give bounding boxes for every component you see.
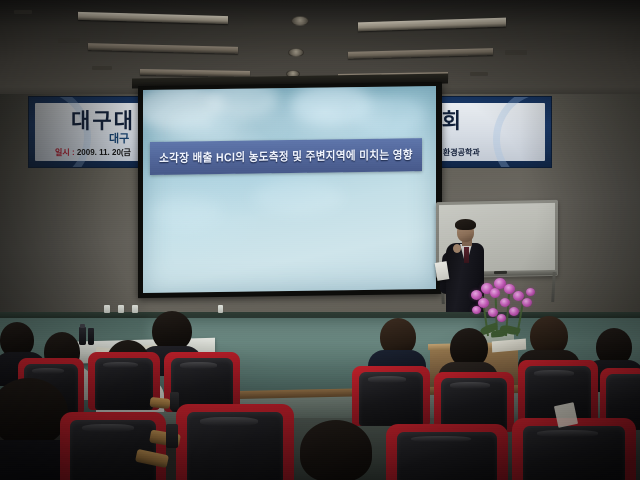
seat-highlight: [368, 376, 406, 383]
ceiling-vent: [92, 66, 112, 70]
round-downlight: [291, 16, 309, 26]
thermos-bottle: [88, 328, 94, 345]
auditorium-photo: 대구대 대구 일시 : 2009. 11. 20(금 발표회 발표회 : 대구대…: [0, 0, 640, 480]
recessed-linear-light: [78, 12, 228, 24]
ceiling-vent: [470, 72, 488, 76]
orchid-bloom: [497, 314, 506, 322]
seat-highlight: [200, 417, 258, 426]
audience-member: [300, 420, 372, 480]
orchid-bloom: [500, 298, 510, 307]
seat-highlight: [537, 430, 598, 437]
recessed-linear-light: [348, 48, 493, 59]
seat-armrest-post: [166, 424, 178, 448]
seat-highlight: [180, 362, 217, 369]
wall-outlet: [118, 305, 124, 313]
round-downlight: [288, 48, 304, 57]
orchid-bloom: [522, 298, 532, 307]
wall-shadow-left: [0, 94, 150, 324]
seat-cushion[interactable]: [397, 432, 497, 480]
slide-title-bar: 소각장 배출 HCl의 농도측정 및 주변지역에 미치는 영향: [150, 138, 422, 175]
recessed-linear-light: [88, 43, 238, 54]
seat-highlight: [82, 424, 134, 432]
orchid-bloom: [472, 306, 481, 314]
ceiling-vent: [14, 10, 32, 14]
slide-cloud: [151, 197, 221, 228]
recessed-linear-light: [358, 18, 506, 32]
seat-highlight: [450, 382, 490, 389]
thermos-bottle: [79, 327, 86, 345]
orchid-bloom: [490, 288, 500, 298]
seat-highlight: [103, 362, 138, 369]
presenter-hand: [453, 244, 461, 253]
wall-outlet: [218, 305, 223, 313]
seat-armrest: [150, 397, 171, 409]
bottle-cap: [80, 324, 85, 328]
orchid-bloom: [526, 288, 535, 296]
wall-outlet: [104, 305, 110, 313]
presenter-hair: [455, 219, 476, 230]
projection-screen: 소각장 배출 HCl의 농도측정 및 주변지역에 미치는 영향: [143, 86, 436, 293]
seat-cushion[interactable]: [187, 412, 283, 480]
slide-cloud: [173, 111, 237, 142]
seat-highlight: [32, 368, 64, 375]
seat-cushion[interactable]: [359, 372, 423, 426]
slide-cloud: [353, 96, 425, 135]
wall-outlet: [132, 305, 138, 313]
presenter-tie: [464, 247, 469, 263]
presenter-papers: [435, 261, 450, 281]
whiteboard-marker: [494, 271, 507, 274]
ceiling-vent: [560, 30, 580, 35]
audience-member: [0, 378, 68, 448]
handout-paper: [554, 402, 578, 428]
recessed-linear-light: [140, 69, 250, 77]
slide-cloud: [253, 179, 343, 214]
ceiling-vent: [505, 50, 527, 55]
ceiling-vent: [58, 38, 80, 43]
seat-cushion[interactable]: [95, 358, 153, 410]
seat-highlight: [534, 370, 574, 377]
seat-armrest-post: [170, 392, 179, 410]
audience-member: [152, 311, 192, 351]
slide-title-text: 소각장 배출 HCl의 농도측정 및 주변지역에 미치는 영향: [159, 146, 413, 166]
seat-cushion[interactable]: [523, 426, 625, 480]
seat-highlight: [411, 436, 471, 443]
orchid-bloom: [509, 307, 519, 316]
